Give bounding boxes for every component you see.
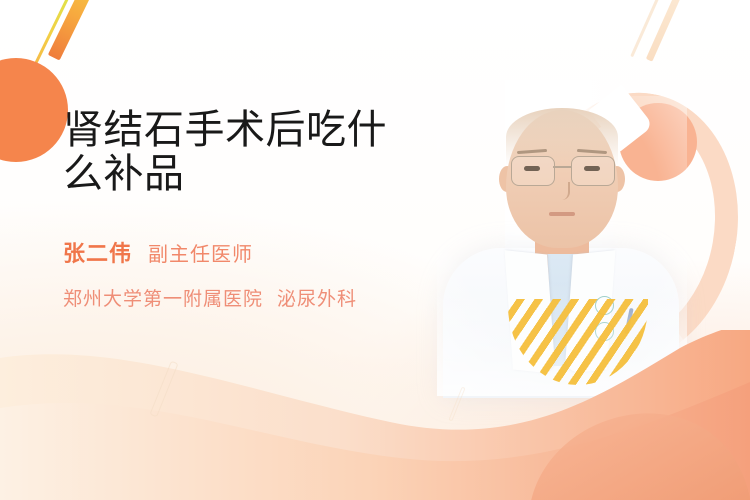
doctor-identity-row: 张二伟 副主任医师 bbox=[63, 236, 433, 268]
doctor-affiliation-row: 郑州大学第一附属医院 泌尿外科 bbox=[63, 284, 433, 311]
doctor-name: 张二伟 bbox=[63, 236, 132, 268]
doctor-rank: 副主任医师 bbox=[148, 238, 253, 267]
doctor-topic-card: 肾结石手术后吃什 么补品 张二伟 副主任医师 郑州大学第一附属医院 泌尿外科 bbox=[0, 0, 750, 500]
doctor-department: 泌尿外科 bbox=[277, 284, 357, 311]
doctor-hospital: 郑州大学第一附属医院 bbox=[63, 284, 263, 311]
text-block: 肾结石手术后吃什 么补品 张二伟 副主任医师 郑州大学第一附属医院 泌尿外科 bbox=[63, 108, 433, 311]
card-title: 肾结石手术后吃什 么补品 bbox=[63, 108, 433, 196]
bottom-wave-decoration bbox=[0, 330, 750, 500]
